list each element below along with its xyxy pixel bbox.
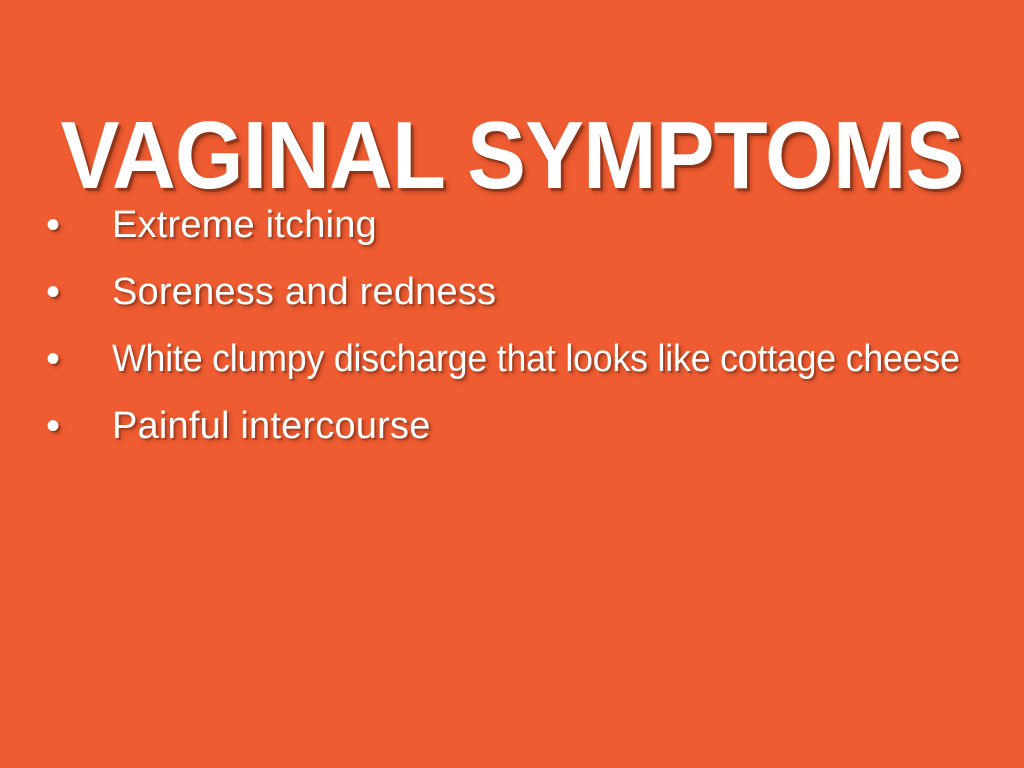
symptom-bullet-list: • Extreme itching • Soreness and redness…	[0, 192, 1024, 460]
bullet-text: Painful intercourse	[112, 393, 431, 460]
bullet-text: White clumpy discharge that looks like c…	[112, 326, 960, 393]
bullet-text: Soreness and redness	[112, 259, 496, 326]
bullet-point-icon: •	[44, 326, 62, 393]
bullet-text: Extreme itching	[112, 192, 377, 259]
list-item: • White clumpy discharge that looks like…	[0, 326, 1024, 393]
bullet-point-icon: •	[44, 192, 62, 259]
slide-title: VAGINAL SYMPTOMS	[41, 108, 983, 204]
bullet-point-icon: •	[44, 393, 62, 460]
list-item: • Soreness and redness	[0, 259, 1024, 326]
presentation-slide: VAGINAL SYMPTOMS • Extreme itching • Sor…	[0, 0, 1024, 768]
list-item: • Extreme itching	[0, 192, 1024, 259]
list-item: • Painful intercourse	[0, 393, 1024, 460]
bullet-point-icon: •	[44, 259, 62, 326]
